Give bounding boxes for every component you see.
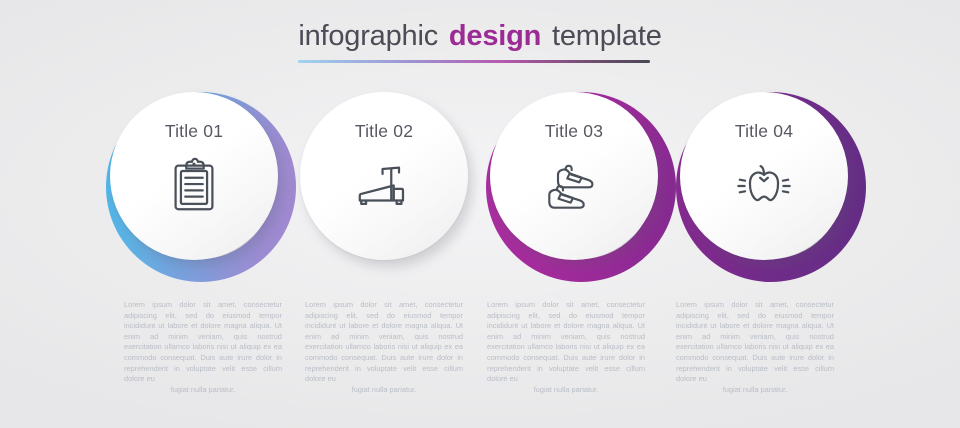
step-disc-1[interactable]: Title 01	[110, 92, 278, 260]
step-title-2: Title 02	[355, 121, 413, 142]
sport-shoes-icon	[543, 155, 605, 217]
step-node-1[interactable]: Title 01	[106, 92, 296, 282]
step-description-1: Lorem ipsum dolor sit amet, consectetur …	[124, 300, 282, 395]
step-title-1: Title 01	[165, 121, 223, 142]
step-disc-4[interactable]: Title 04	[680, 92, 848, 260]
step-disc-3[interactable]: Title 03	[490, 92, 658, 260]
step-node-3[interactable]: Title 03	[486, 92, 676, 282]
description-body-1: Lorem ipsum dolor sit amet, consectetur …	[124, 300, 282, 383]
step-description-4: Lorem ipsum dolor sit amet, consectetur …	[676, 300, 834, 395]
step-title-4: Title 04	[735, 121, 793, 142]
description-body-3: Lorem ipsum dolor sit amet, consectetur …	[487, 300, 645, 383]
step-description-2: Lorem ipsum dolor sit amet, consectetur …	[305, 300, 463, 395]
description-body-4: Lorem ipsum dolor sit amet, consectetur …	[676, 300, 834, 383]
step-node-4[interactable]: Title 04	[676, 92, 866, 282]
description-lastline-1: fugiat nulla pariatur.	[124, 385, 282, 396]
step-description-3: Lorem ipsum dolor sit amet, consectetur …	[487, 300, 645, 395]
description-lastline-3: fugiat nulla pariatur.	[487, 385, 645, 396]
description-lastline-2: fugiat nulla pariatur.	[305, 385, 463, 396]
step-disc-2[interactable]: Title 02	[300, 92, 468, 260]
apple-icon	[733, 155, 795, 217]
clipboard-icon	[163, 155, 225, 217]
infographic-canvas: infographic design template Title 01	[0, 0, 960, 428]
treadmill-icon	[353, 155, 415, 217]
description-body-2: Lorem ipsum dolor sit amet, consectetur …	[305, 300, 463, 383]
description-lastline-4: fugiat nulla pariatur.	[676, 385, 834, 396]
step-node-2[interactable]: Title 02	[296, 92, 486, 282]
step-title-3: Title 03	[545, 121, 603, 142]
descriptions-row: Lorem ipsum dolor sit amet, consectetur …	[0, 300, 960, 400]
